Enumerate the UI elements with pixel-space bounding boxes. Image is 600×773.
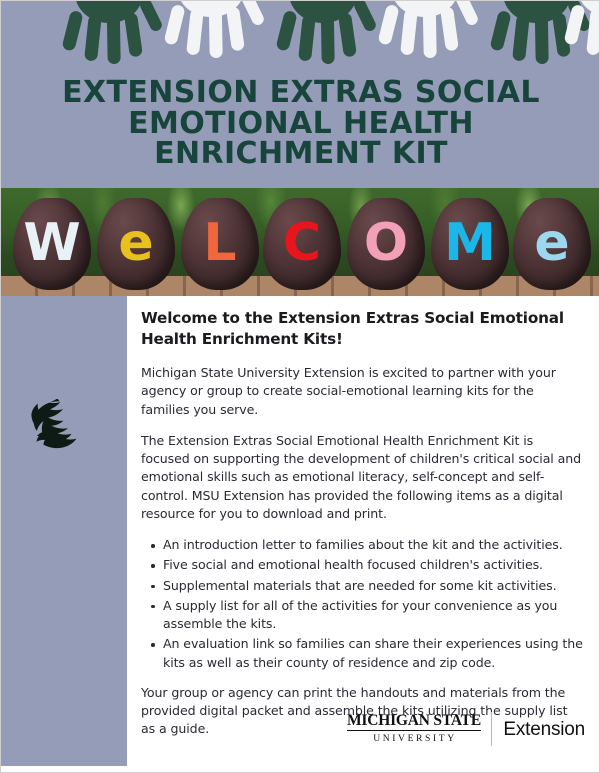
welcome-pot-1: W (13, 198, 91, 290)
msu-line-1: MICHIGAN STATE (347, 713, 481, 731)
content-panel: Welcome to the Extension Extras Social E… (127, 296, 600, 773)
welcome-pots: W e L C O M e (1, 188, 600, 296)
page-title-line-2: EMOTIONAL HEALTH (1, 109, 600, 140)
description-paragraph: The Extension Extras Social Emotional He… (141, 432, 585, 523)
handprint-row (1, 1, 600, 77)
left-sidebar (1, 296, 127, 766)
msu-line-2: UNIVERSITY (347, 731, 481, 745)
flyer-page: EXTENSION EXTRAS SOCIAL EMOTIONAL HEALTH… (0, 0, 600, 773)
welcome-letter-2: e (97, 217, 175, 269)
msu-wordmark: MICHIGAN STATE UNIVERSITY (347, 713, 491, 745)
welcome-letter-6: M (431, 217, 509, 269)
list-item: A supply list for all of the activities … (163, 597, 585, 634)
intro-paragraph: Michigan State University Extension is e… (141, 364, 585, 419)
welcome-letter-1: W (13, 217, 91, 269)
list-item: Five social and emotional health focused… (163, 556, 585, 574)
page-title-line-3: ENRICHMENT KIT (1, 139, 600, 170)
welcome-pot-4: C (263, 198, 341, 290)
page-title-line-1: EXTENSION EXTRAS SOCIAL (1, 78, 600, 109)
list-item: Supplemental materials that are needed f… (163, 577, 585, 595)
spartan-helmet-icon (25, 399, 83, 453)
list-item: An evaluation link so families can share… (163, 635, 585, 672)
welcome-letter-4: C (263, 217, 341, 269)
welcome-letter-7: e (513, 217, 591, 269)
welcome-photo-banner: W e L C O M e (1, 188, 600, 296)
welcome-pot-6: M (431, 198, 509, 290)
welcome-letter-5: O (347, 217, 425, 269)
list-item: An introduction letter to families about… (163, 536, 585, 554)
page-title: EXTENSION EXTRAS SOCIAL EMOTIONAL HEALTH… (1, 78, 600, 170)
welcome-pot-2: e (97, 198, 175, 290)
content-heading: Welcome to the Extension Extras Social E… (141, 308, 585, 349)
kit-contents-list: An introduction letter to families about… (141, 536, 585, 672)
welcome-pot-3: L (181, 198, 259, 290)
msu-unit-name: Extension (492, 720, 585, 739)
header-banner: EXTENSION EXTRAS SOCIAL EMOTIONAL HEALTH… (1, 1, 600, 188)
welcome-pot-7: e (513, 198, 591, 290)
welcome-letter-3: L (181, 217, 259, 269)
msu-extension-logo: MICHIGAN STATE UNIVERSITY Extension (347, 711, 585, 747)
welcome-pot-5: O (347, 198, 425, 290)
